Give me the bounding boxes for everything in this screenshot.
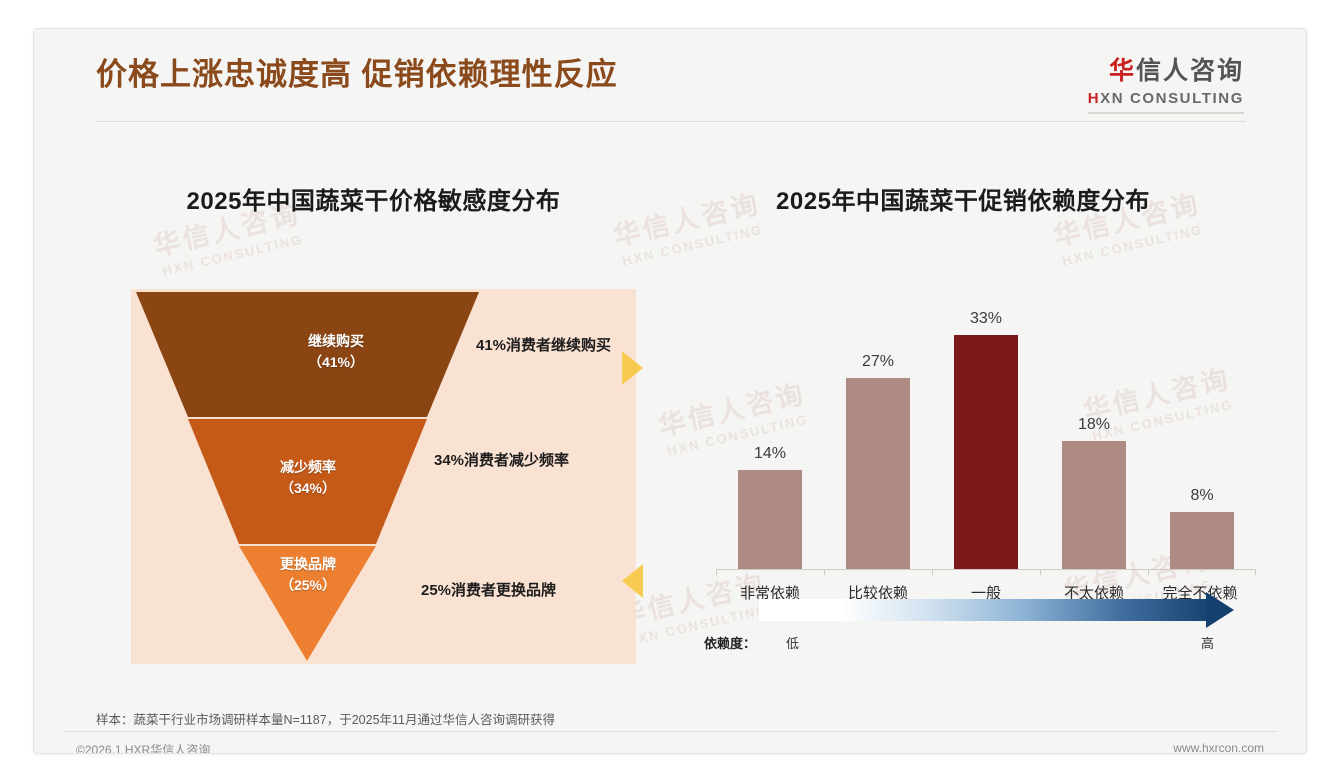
logo-english-rest: XN CONSULTING [1100,90,1244,107]
x-axis-tick [824,569,825,575]
funnel-label-1-value: （41%） [241,352,431,373]
funnel-annotation-3: 25%消费者更换品牌 [421,579,556,600]
play-right-marker-icon [622,351,643,385]
promo-dependency-panel: 2025年中国蔬菜干促销依赖度分布 14% 27% 33% [674,139,1252,684]
x-axis-tick [716,569,717,575]
footer-divider [64,731,1276,732]
funnel-chart: 继续购买 （41%） 减少频率 （34%） 更换品牌 （25%） 41%消费者继… [131,289,636,664]
funnel-label-3-name: 更换品牌 [213,554,403,575]
logo-chinese-rest: 信人咨询 [1136,57,1244,85]
right-chart-title: 2025年中国蔬菜干促销依赖度分布 [674,181,1252,216]
funnel-label-2-name: 减少频率 [213,457,403,478]
bar-value-3[interactable] [1062,441,1126,569]
source-note: 样本：蔬菜干行业市场调研样本量N=1187，于2025年11月通过华信人咨询调研… [96,709,555,728]
gradient-bar [759,599,1214,621]
bar-column: 33% [932,314,1040,569]
footer-website[interactable]: www.hxrcon.com [1173,741,1264,754]
funnel-label-2-value: （34%） [213,478,403,499]
x-axis-tick [1148,569,1149,575]
bar-column: 14% [716,314,824,569]
page-title: 价格上涨忠诚度高 促销依赖理性反应 [96,49,618,94]
bar-value-0[interactable] [738,470,802,569]
bar-label-3: 18% [1040,416,1148,434]
bar-value-2[interactable] [954,335,1018,569]
funnel-label-3: 更换品牌 （25%） [213,554,403,596]
x-axis-tick [1040,569,1041,575]
bar-value-4[interactable] [1170,512,1234,569]
logo-chinese: 华信人咨询 [1088,59,1244,84]
header-divider [96,121,1246,122]
logo-chinese-red: 华 [1109,57,1136,85]
x-axis-tick [1255,569,1256,575]
gradient-arrow-head-icon [1206,592,1234,628]
logo-english: HXN CONSULTING [1088,91,1244,106]
slide: 价格上涨忠诚度高 促销依赖理性反应 华信人咨询 HXN CONSULTING 华… [0,0,1340,780]
slide-header: 价格上涨忠诚度高 促销依赖理性反应 华信人咨询 HXN CONSULTING [34,29,1306,121]
legend-label: 依赖度： [704,633,756,652]
bar-value-1[interactable] [846,378,910,569]
bar-column: 8% [1148,314,1256,569]
funnel-label-2: 减少频率 （34%） [213,457,403,499]
x-axis-line [716,569,1256,570]
footer-copyright: ©2026.1 HXR华信人咨询 [76,741,210,754]
funnel-label-1: 继续购买 （41%） [241,331,431,373]
bar-label-4: 8% [1148,487,1256,505]
funnel-annotation-1: 41%消费者继续购买 [476,334,611,355]
logo-english-red: H [1088,90,1100,107]
dependency-gradient-legend: 依赖度： 低 高 [714,599,1259,669]
funnel-label-3-value: （25%） [213,575,403,596]
legend-low-label: 低 [786,633,799,652]
brand-logo: 华信人咨询 HXN CONSULTING [1088,59,1244,114]
funnel-label-1-name: 继续购买 [241,331,431,352]
play-left-marker-icon [622,564,643,598]
bar-plot-area: 14% 27% 33% 18% [716,314,1256,569]
logo-underline [1088,112,1244,114]
bar-label-1: 27% [824,353,932,371]
bar-label-0: 14% [716,445,824,463]
bar-column: 18% [1040,314,1148,569]
bar-label-2: 33% [932,310,1040,328]
x-axis-tick [932,569,933,575]
left-chart-title: 2025年中国蔬菜干价格敏感度分布 [96,181,651,216]
price-sensitivity-panel: 2025年中国蔬菜干价格敏感度分布 继续购买 （41%） 减少频率 （34%） [96,139,651,684]
funnel-annotation-2: 34%消费者减少频率 [434,449,569,470]
bar-column: 27% [824,314,932,569]
legend-high-label: 高 [1201,633,1214,652]
slide-card: 价格上涨忠诚度高 促销依赖理性反应 华信人咨询 HXN CONSULTING 华… [33,28,1307,754]
